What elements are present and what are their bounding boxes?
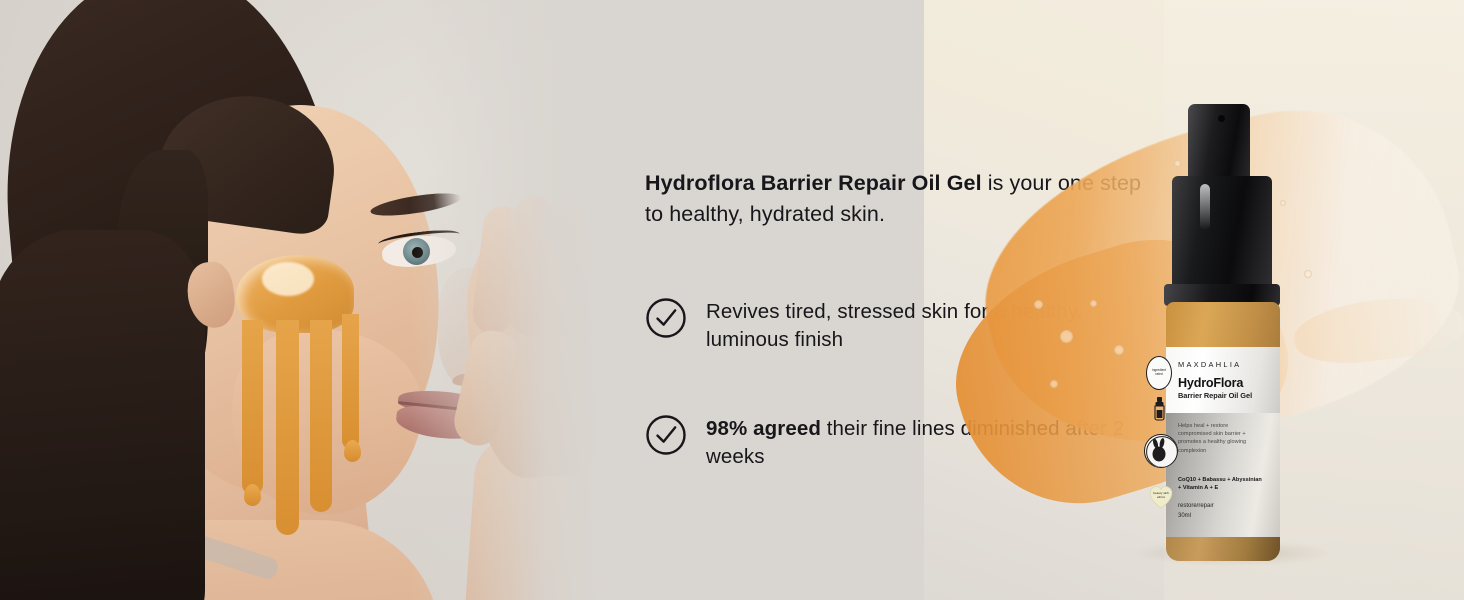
model-photo <box>0 0 600 600</box>
check-circle-icon <box>645 414 687 456</box>
check-circle-icon <box>645 297 687 339</box>
headline-product-name: Hydroflora Barrier Repair Oil Gel <box>645 171 982 195</box>
oil-drip <box>242 320 263 495</box>
cap-highlight <box>1200 184 1210 230</box>
label-brand: MAXDAHLIA <box>1178 360 1241 369</box>
label-volume: 30ml <box>1178 512 1214 522</box>
hair-length <box>0 230 205 600</box>
oil-gel-highlight <box>262 262 314 296</box>
gel-bubble <box>1114 345 1124 355</box>
benefit-stat: 98% agreed <box>706 417 821 440</box>
label-product-name: HydroFlora <box>1178 376 1243 390</box>
label-ingredients: CoQ10 + Babassu + Abyssinian + Vitamin A… <box>1178 476 1262 493</box>
cruelty-free-badge <box>1144 434 1178 468</box>
dropper-bottle-icon <box>1152 396 1167 422</box>
promo-banner: Hydroflora Barrier Repair Oil Gel is you… <box>0 0 1464 600</box>
bottle-base <box>1166 537 1280 561</box>
oil-drip <box>276 320 299 535</box>
heart-badge-text: beauty with ethics <box>1150 491 1172 499</box>
label-description: Helps heal + restore compromised skin ba… <box>1178 422 1254 455</box>
oil-droplet <box>244 484 261 506</box>
ingredient-rated-badge-text: ingredient rated <box>1149 368 1169 377</box>
label-usage: restore/repair 30ml <box>1178 502 1214 521</box>
oil-droplet <box>344 440 361 462</box>
oil-drip <box>342 314 359 449</box>
oil-drip <box>310 320 332 512</box>
product-bottle: MAXDAHLIA HydroFlora Barrier Repair Oil … <box>1140 104 1320 560</box>
pump-cap <box>1172 176 1272 292</box>
label-subtitle: Barrier Repair Oil Gel <box>1178 391 1252 400</box>
gel-bubble <box>1060 330 1073 343</box>
gel-bubble <box>1090 300 1097 307</box>
pump-nozzle-opening <box>1218 115 1225 122</box>
label-usage-text: restore/repair <box>1178 502 1214 512</box>
photo-fade-edge <box>410 0 600 600</box>
ingredient-rated-badge: ingredient rated <box>1146 356 1172 390</box>
gel-bubble <box>1034 300 1043 309</box>
gel-bubble <box>1050 380 1058 388</box>
heart-badge: beauty with ethics <box>1146 482 1176 510</box>
